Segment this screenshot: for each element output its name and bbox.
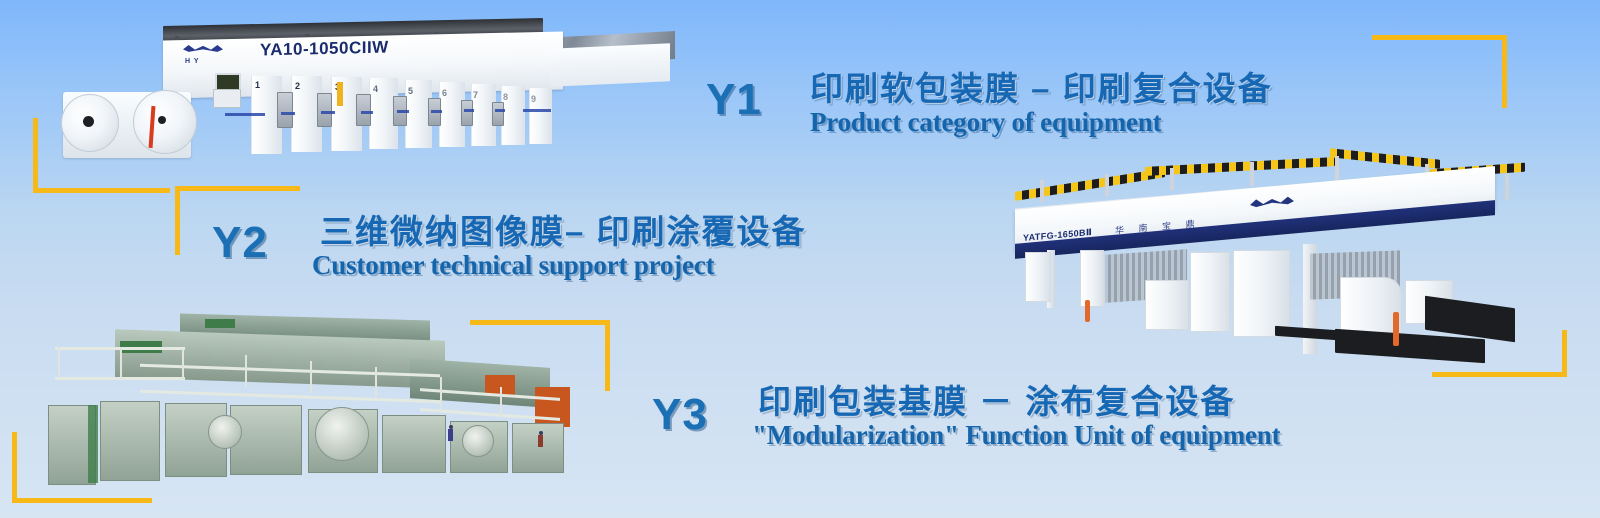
machine3-roll bbox=[462, 425, 494, 457]
machine2-process-unit bbox=[1145, 280, 1189, 330]
machine2-process-unit bbox=[1190, 252, 1230, 332]
machine-photo-laminating-machine: 华 南 宝 鼎 YATFG-1650BⅡ bbox=[985, 152, 1530, 367]
machine3-process-unit bbox=[230, 405, 302, 475]
machine2-hose bbox=[1393, 312, 1399, 346]
machine-photo-coating-line bbox=[30, 305, 575, 485]
machine3-green-cover bbox=[205, 319, 235, 328]
machine3-rail-post bbox=[245, 355, 247, 387]
machine2-process-unit bbox=[1080, 250, 1104, 307]
machine3-orange-module bbox=[535, 387, 570, 427]
machine1-blue-stripe bbox=[523, 109, 551, 112]
machine1-blue-stripe bbox=[225, 113, 265, 116]
machine1-unit-number: 9 bbox=[531, 94, 536, 104]
worker-body bbox=[448, 429, 453, 441]
machine1-control-panel bbox=[356, 94, 371, 126]
machine1-reel-hub bbox=[158, 116, 166, 124]
bracket-top-right-corner bbox=[1372, 35, 1507, 108]
machine1-rear-hood bbox=[550, 43, 670, 86]
entry-y2-chinese: 三维微纳图像膜– 印刷涂覆设备 bbox=[320, 215, 807, 250]
machine1-unit-number: 4 bbox=[373, 84, 378, 94]
machine1-blue-stripe bbox=[281, 112, 295, 115]
entry-y1-chinese: 印刷软包装膜 – 印刷复合设备 bbox=[810, 72, 1273, 107]
machine2-safety-railing bbox=[1015, 168, 1165, 201]
machine3-rail-post bbox=[440, 377, 442, 409]
machine1-blue-stripe bbox=[464, 109, 474, 112]
machine1-blue-stripe bbox=[397, 110, 409, 113]
machine2-hose bbox=[1085, 300, 1090, 322]
machine1-unit-number: 7 bbox=[473, 90, 478, 100]
machine1-unit-number: 8 bbox=[503, 92, 508, 102]
machine1-indicator-bar bbox=[337, 82, 343, 106]
machine3-rail-post bbox=[120, 347, 122, 379]
machine1-unit-number: 5 bbox=[408, 86, 413, 96]
machine1-unit-number: 6 bbox=[442, 88, 447, 98]
machine3-roll bbox=[208, 415, 242, 449]
machine1-control-panel bbox=[317, 93, 332, 127]
machine1-control-panel bbox=[492, 102, 504, 126]
machine2-railing-post bbox=[1040, 180, 1044, 202]
machine3-web-material bbox=[88, 405, 98, 483]
machine2-base-frame bbox=[1275, 326, 1337, 340]
machine2-railing-post bbox=[1505, 174, 1509, 200]
machine3-process-unit bbox=[100, 401, 160, 481]
machine3-worker bbox=[448, 425, 456, 447]
entry-y3-chinese: 印刷包装基膜 － 涂布复合设备 bbox=[758, 385, 1235, 420]
machine1-control-panel bbox=[277, 92, 293, 128]
machine3-rail-post bbox=[58, 347, 60, 379]
machine1-blue-stripe bbox=[361, 111, 373, 114]
machine1-control-panel bbox=[461, 100, 473, 126]
machine3-worker bbox=[538, 431, 546, 451]
machine-photo-gravure-printing-press: H Y YA10-1050CIIW 1 2 3 4 5 6 7 8 9 bbox=[55, 6, 600, 181]
machine3-rail-post bbox=[375, 367, 377, 399]
machine1-unit-number: 1 bbox=[255, 80, 260, 90]
machine1-reel-hub bbox=[83, 116, 94, 127]
machine1-brand-logo: H Y bbox=[175, 44, 231, 64]
machine1-brand-text: H Y bbox=[185, 52, 200, 72]
entry-y3-english: "Modularization" Function Unit of equipm… bbox=[752, 421, 1280, 449]
machine2-safety-railing bbox=[1330, 148, 1440, 169]
worker-body bbox=[538, 435, 543, 447]
machine1-model-text: YA10-1050CIIW bbox=[260, 38, 389, 61]
machine2-process-unit bbox=[1233, 250, 1290, 337]
machine3-roll bbox=[315, 407, 369, 461]
machine2-railing-post bbox=[1250, 162, 1254, 186]
machine3-rail-post bbox=[310, 361, 312, 393]
entry-y3-key: Y3 bbox=[652, 393, 708, 437]
machine3-rail-post bbox=[182, 349, 184, 381]
product-banner: H Y YA10-1050CIIW 1 2 3 4 5 6 7 8 9 bbox=[0, 0, 1600, 518]
entry-y1-english: Product category of equipment bbox=[810, 108, 1161, 136]
entry-y2-english: Customer technical support project bbox=[312, 251, 714, 279]
machine2-railing-post bbox=[1170, 168, 1174, 190]
machine1-blue-stripe bbox=[495, 109, 505, 112]
machine3-process-unit bbox=[382, 415, 446, 473]
machine3-walkway-rail bbox=[140, 390, 440, 403]
machine1-unit-number: 2 bbox=[295, 81, 300, 91]
entry-y2-key: Y2 bbox=[212, 221, 268, 265]
machine1-keypad bbox=[213, 89, 241, 108]
machine2-railing-post bbox=[1105, 174, 1109, 196]
machine3-rail-post bbox=[500, 387, 502, 419]
machine1-blue-stripe bbox=[321, 111, 335, 114]
entry-y1-key: Y1 bbox=[706, 78, 762, 122]
machine2-process-unit bbox=[1025, 252, 1051, 302]
machine1-blue-stripe bbox=[431, 110, 442, 113]
